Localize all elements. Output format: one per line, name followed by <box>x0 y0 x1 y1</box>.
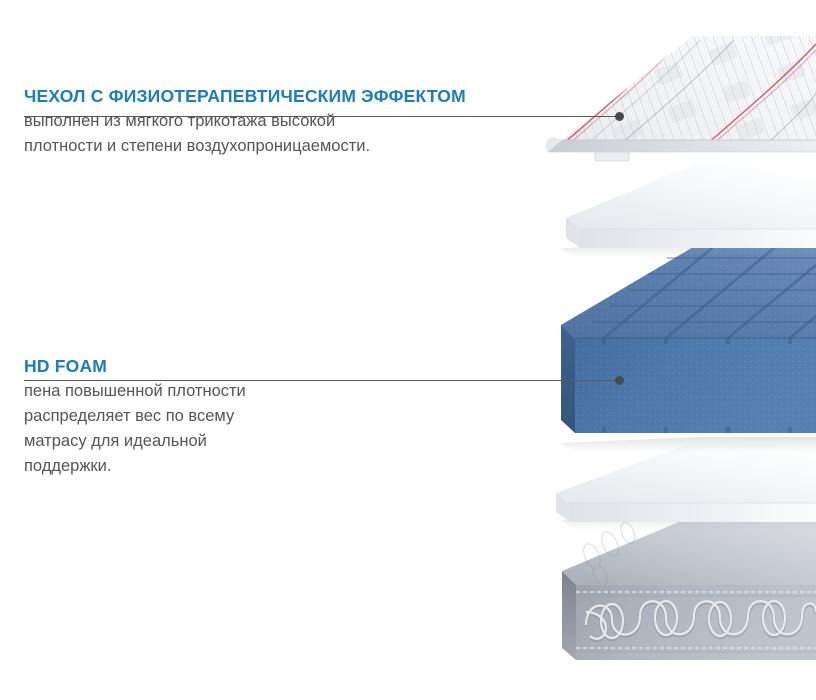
hd-foam-left-side <box>561 325 575 433</box>
cover-front-edge <box>548 140 816 152</box>
callout-hd-foam-body-line-3: матрасу для идеальной <box>24 429 246 454</box>
layer-white-foam-upper <box>560 162 816 258</box>
callout-hd-foam-body-line-2: распределяет вес по всему <box>24 404 246 429</box>
callout-cover-body: выполнен из мягкого трикотажа высокой пл… <box>24 109 466 159</box>
leader-dot-hd-foam <box>615 376 624 385</box>
callout-hd-foam-body-line-4: поддержки. <box>24 454 246 479</box>
leader-dot-cover <box>615 112 624 121</box>
layer-fabric-cover <box>546 36 816 161</box>
callout-hd-foam-title: HD FOAM <box>24 356 246 376</box>
upper-foam-top <box>566 162 816 229</box>
callout-hd-foam-body: пена повышенной плотности распределяет в… <box>24 379 246 479</box>
callout-cover: ЧЕХОЛ С ФИЗИОТЕРАПЕВТИЧЕСКИМ ЭФФЕКТОМ вы… <box>24 86 466 159</box>
hd-foam-cast-shadow <box>560 437 816 452</box>
layer-hd-foam-block <box>560 243 816 452</box>
layer-white-foam-lower <box>556 440 816 530</box>
upper-foam-front <box>580 229 816 248</box>
callout-hd-foam: HD FOAM пена повышенной плотности распре… <box>24 356 246 479</box>
lower-foam-front <box>570 503 816 522</box>
callout-cover-body-line-1: выполнен из мягкого трикотажа высокой <box>24 109 466 134</box>
layer-quilted-base <box>562 513 816 660</box>
callout-cover-title: ЧЕХОЛ С ФИЗИОТЕРАПЕВТИЧЕСКИМ ЭФФЕКТОМ <box>24 86 466 106</box>
mattress-layers-infographic: ЧЕХОЛ С ФИЗИОТЕРАПЕВТИЧЕСКИМ ЭФФЕКТОМ вы… <box>0 0 816 700</box>
cover-fabric-texture <box>548 36 816 152</box>
base-left-side <box>562 571 576 660</box>
callout-hd-foam-body-line-1: пена повышенной плотности <box>24 379 246 404</box>
callout-cover-body-line-2: плотности и степени воздухопроницаемости… <box>24 134 466 159</box>
